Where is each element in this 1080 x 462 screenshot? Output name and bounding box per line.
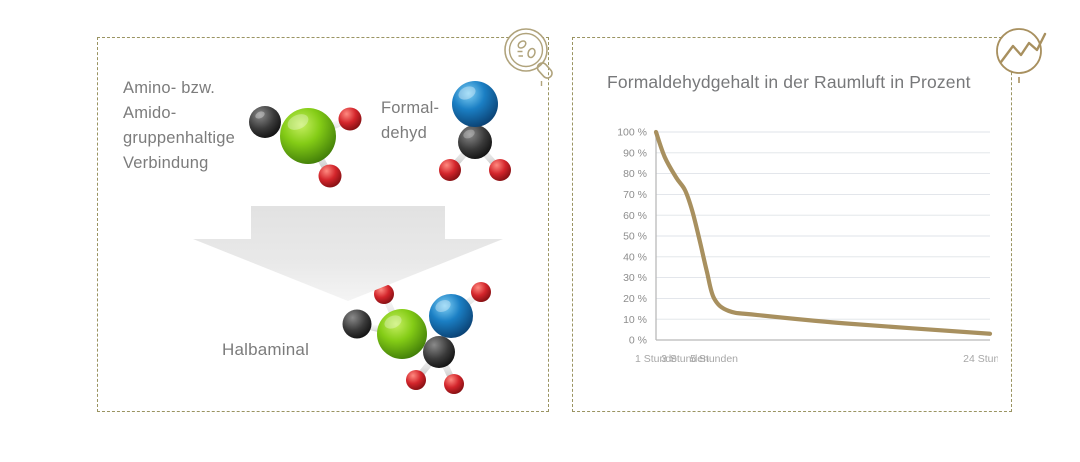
chart-series-line	[656, 132, 990, 334]
y-axis-tick-label: 0 %	[629, 335, 647, 347]
infographic-canvas: Amino- bzw. Amido- gruppenhaltige Verbin…	[0, 0, 1080, 462]
x-axis-tick-label: 24 Stunden	[963, 353, 998, 365]
formaldehyde-molecule	[434, 70, 516, 192]
down-arrow-icon	[193, 206, 503, 301]
y-axis-tick-label: 20 %	[623, 293, 647, 305]
y-axis-tick-label: 50 %	[623, 231, 647, 243]
amino-compound-molecule	[238, 84, 370, 196]
chart-title: Formaldehydgehalt in der Raumluft in Pro…	[607, 72, 971, 93]
y-axis-tick-label: 10 %	[623, 314, 647, 326]
y-axis-tick-label: 70 %	[623, 189, 647, 201]
x-axis-tick-label: 5 Stunden	[690, 353, 738, 365]
y-axis-tick-label: 80 %	[623, 168, 647, 180]
trend-chart-circle-icon	[991, 22, 1055, 86]
y-axis-tick-label: 40 %	[623, 251, 647, 263]
line-chart: 100 %90 %80 %70 %60 %50 %40 %30 %20 %10 …	[598, 118, 998, 388]
y-axis-tick-label: 30 %	[623, 272, 647, 284]
y-axis-tick-label: 60 %	[623, 210, 647, 222]
y-axis-tick-label: 100 %	[617, 127, 647, 139]
y-axis-tick-label: 90 %	[623, 147, 647, 159]
